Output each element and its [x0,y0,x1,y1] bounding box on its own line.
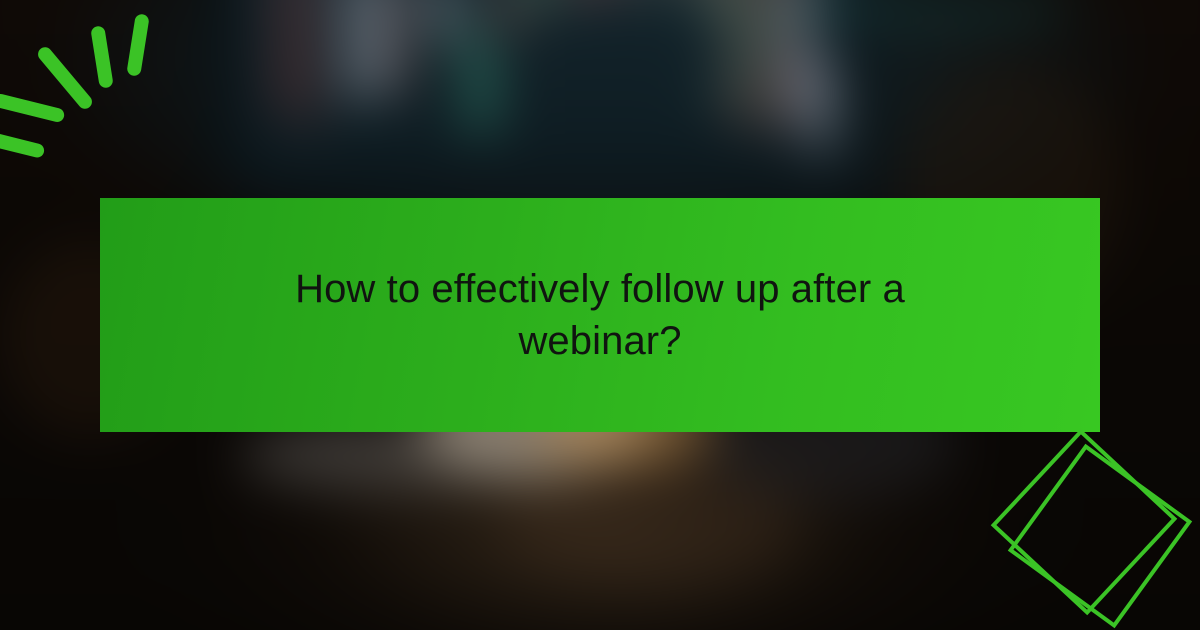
page-title: How to effectively follow up after a web… [260,263,940,367]
social-share-card: How to effectively follow up after a web… [0,0,1200,630]
candlestick [434,0,451,40]
trend-segment [702,55,741,106]
trend-segment [992,4,1062,16]
candlestick [344,0,359,100]
candlestick [370,0,385,96]
candlestick [394,0,406,92]
trend-segment [770,3,840,18]
headline-banner: How to effectively follow up after a web… [100,198,1100,432]
trend-segment [730,19,777,55]
trend-segment [916,10,996,19]
trend-segment [838,3,918,15]
candlestick [500,0,522,34]
trading-chart-screen [262,0,838,162]
candlestick [468,40,494,132]
candlestick [304,0,313,132]
candlestick [280,0,293,112]
candlestick [524,0,550,6]
